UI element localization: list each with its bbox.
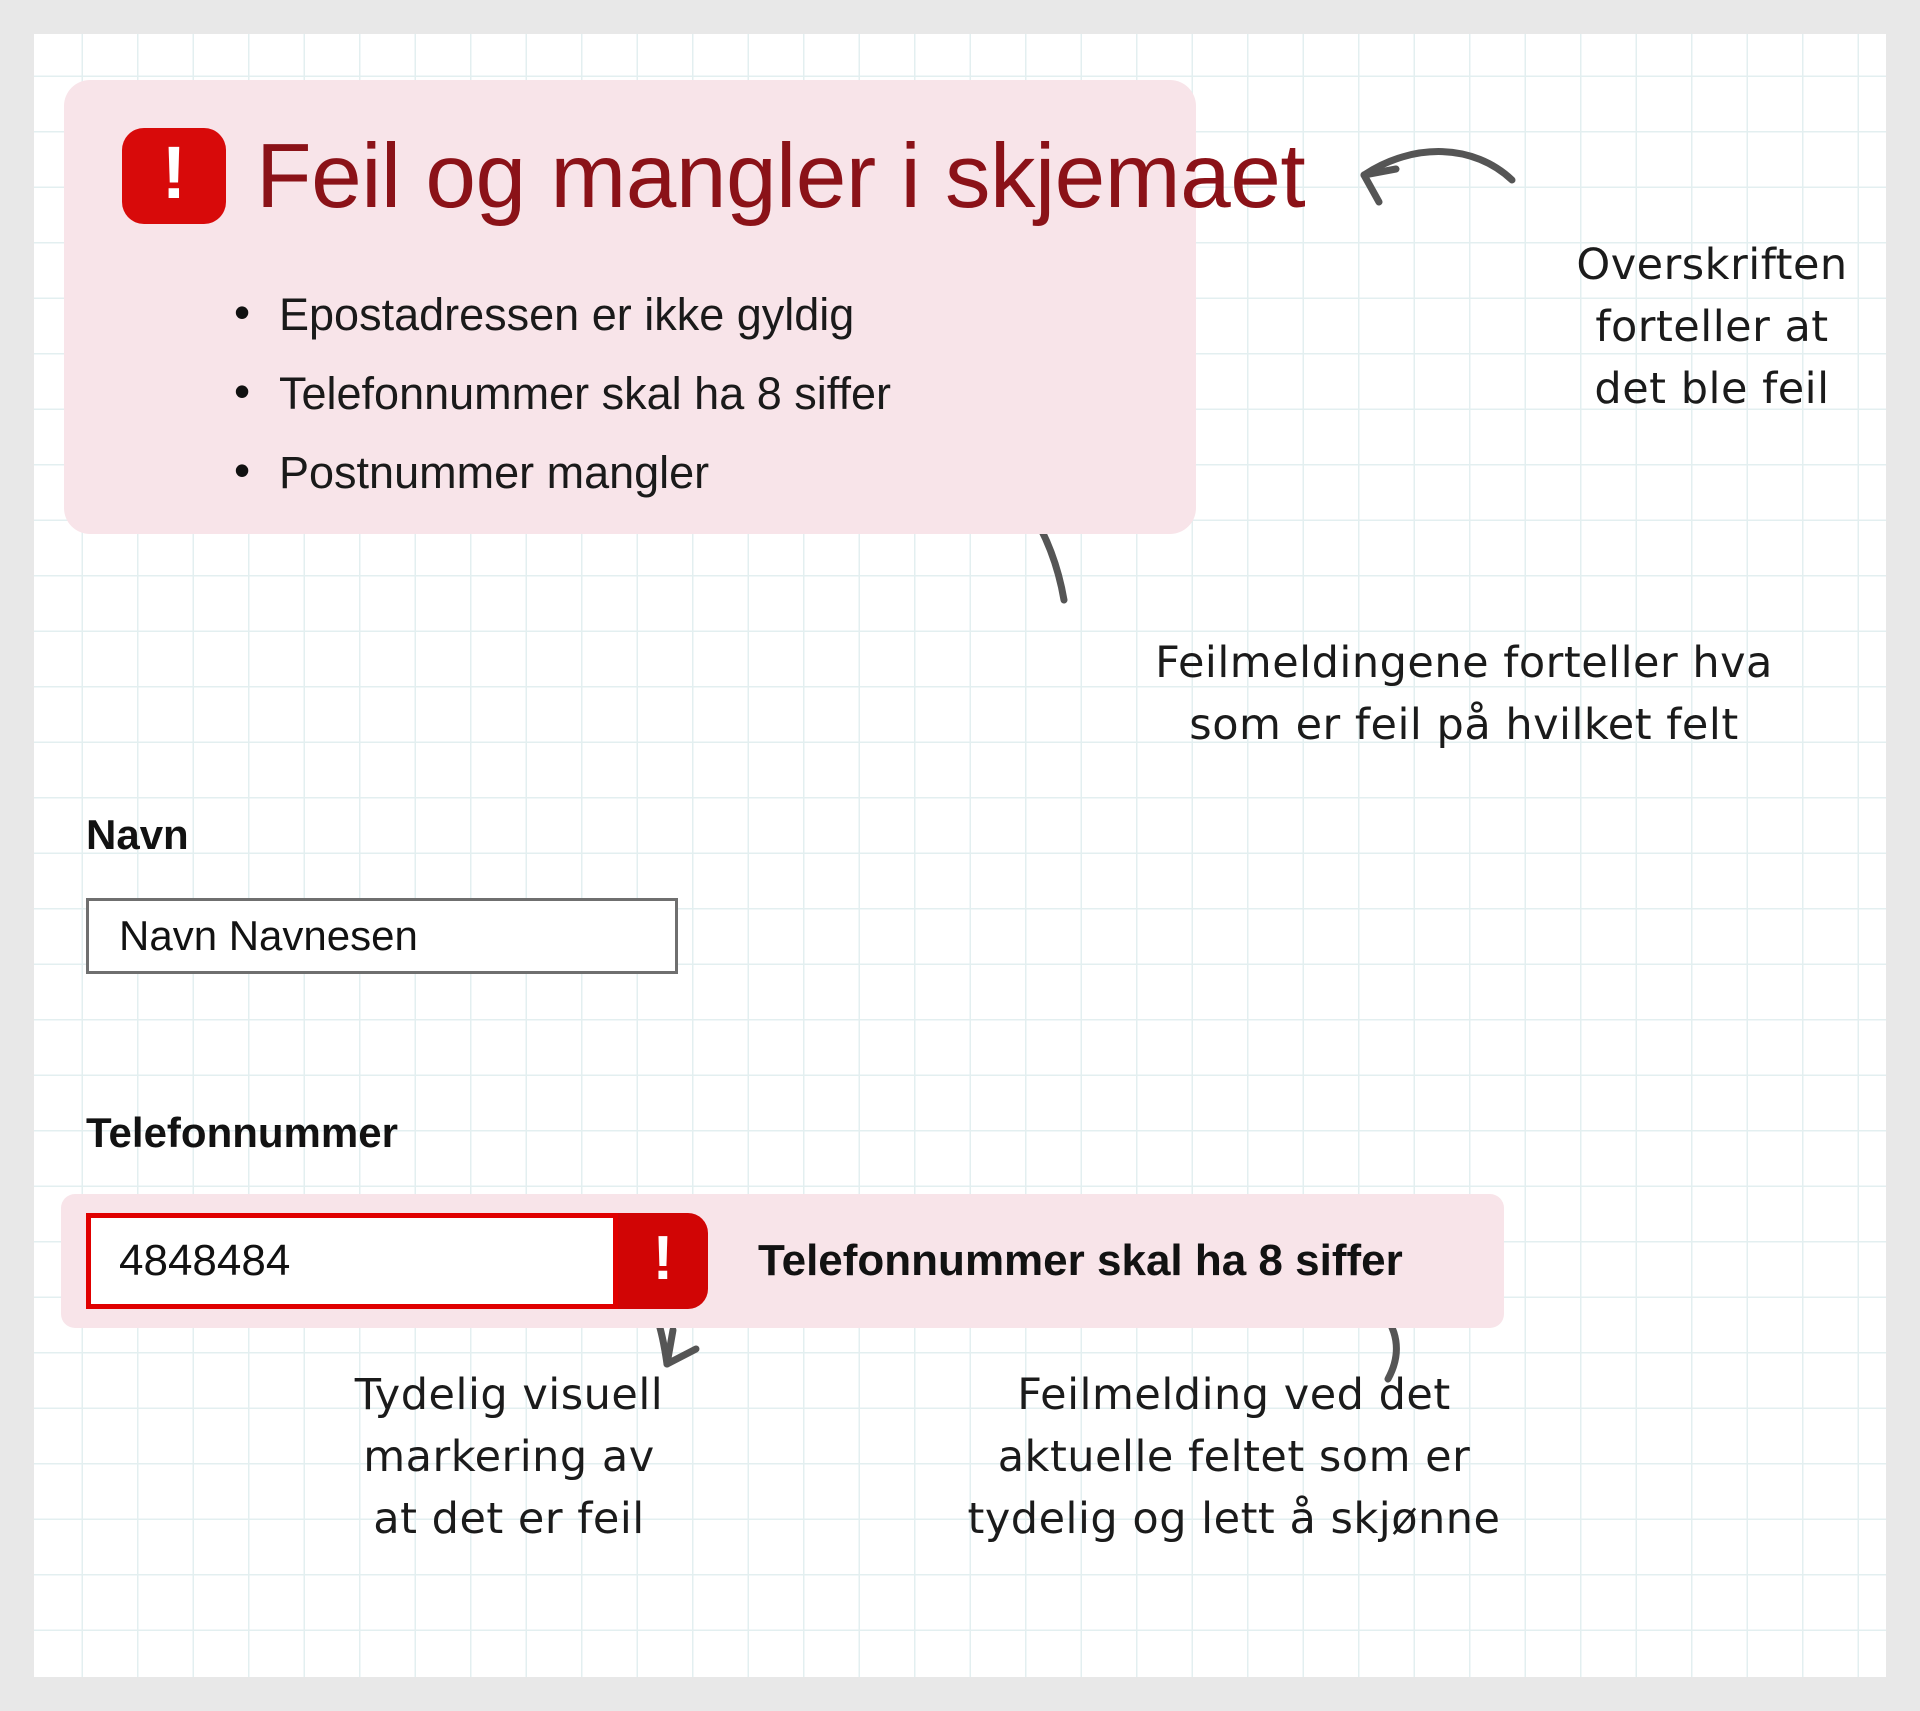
arrow-to-heading — [1364, 152, 1512, 180]
error-summary-title: Feil og mangler i skjemaet — [256, 129, 1305, 224]
telefonnummer-error-row: 4848484 ! Telefonnummer skal ha 8 siffer — [61, 1194, 1504, 1328]
annotation-field-message: Feilmelding ved det aktuelle feltet som … — [864, 1364, 1604, 1550]
telefonnummer-input[interactable]: 4848484 — [86, 1213, 618, 1309]
error-summary-list: Epostadressen er ikke gyldig Telefonnumm… — [234, 290, 891, 527]
sketch-canvas: ! Feil og mangler i skjemaet Epostadress… — [34, 34, 1886, 1677]
exclamation-glyph: ! — [653, 1228, 674, 1290]
navn-input-value: Navn Navnesen — [119, 913, 418, 959]
list-item[interactable]: Telefonnummer skal ha 8 siffer — [234, 369, 891, 419]
telefonnummer-input-value: 4848484 — [119, 1237, 290, 1285]
error-summary-header: ! Feil og mangler i skjemaet — [122, 128, 1305, 224]
arrow-to-heading-head — [1364, 169, 1396, 202]
navn-label: Navn — [86, 812, 189, 858]
arrow-to-error-icon-head — [667, 1330, 696, 1364]
annotation-visual-marking: Tydelig visuell markering av at det er f… — [299, 1364, 719, 1550]
exclamation-glyph: ! — [162, 136, 187, 210]
navn-input[interactable]: Navn Navnesen — [86, 898, 678, 974]
telefonnummer-error-message: Telefonnummer skal ha 8 siffer — [758, 1237, 1403, 1285]
telefonnummer-label: Telefonnummer — [86, 1110, 398, 1156]
list-item[interactable]: Epostadressen er ikke gyldig — [234, 290, 891, 340]
exclamation-icon: ! — [122, 128, 226, 224]
list-item[interactable]: Postnummer mangler — [234, 448, 891, 498]
exclamation-icon: ! — [618, 1213, 708, 1309]
annotation-heading: Overskriften forteller at det ble feil — [1522, 234, 1886, 420]
annotation-messages: Feilmeldingene forteller hva som er feil… — [1054, 632, 1874, 756]
telefonnummer-control[interactable]: 4848484 ! — [86, 1213, 708, 1309]
error-summary-box: ! Feil og mangler i skjemaet Epostadress… — [64, 80, 1196, 534]
